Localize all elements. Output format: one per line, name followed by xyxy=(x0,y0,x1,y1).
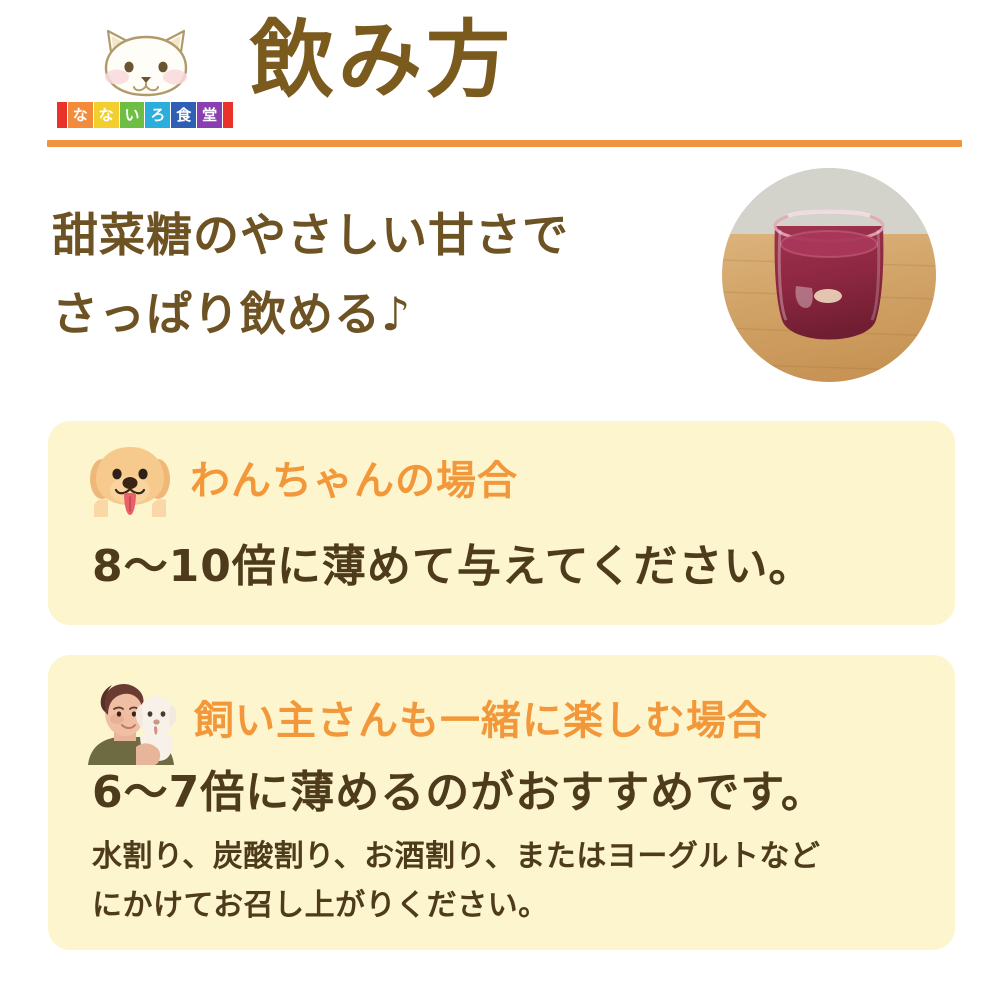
brand-tile-6: 堂 xyxy=(197,102,222,128)
page-title: 飲み方 xyxy=(250,18,514,102)
brand-tile-2: な xyxy=(94,102,119,128)
page-header: な な い ろ 食 堂 飲み方 xyxy=(0,0,1000,150)
card-owner-title: 飼い主さんも一緒に楽しむ場合 xyxy=(194,701,768,741)
brand-tile-1: な xyxy=(68,102,93,128)
card-owner-sub-text: 水割り、炭酸割り、お酒割り、またはヨーグルトなど にかけてお召し上がりください。 xyxy=(92,833,922,930)
card-owner-main-text: 6〜7倍に薄めるのがおすすめです。 xyxy=(92,765,826,820)
card-dog-main-text: 8〜10倍に薄めて与えてください。 xyxy=(92,539,813,594)
brand-tile-7 xyxy=(223,102,233,128)
brand-tile-4: ろ xyxy=(145,102,170,128)
header-divider xyxy=(47,140,962,147)
promo-page: な な い ろ 食 堂 飲み方 甜菜糖のやさしい甘さで さっぱり飲める♪ xyxy=(0,0,1000,1000)
golden-retriever-puppy-icon xyxy=(84,445,176,517)
brand-tile-5: 食 xyxy=(171,102,196,128)
owner-with-puppy-icon xyxy=(84,677,180,765)
brand-name-tiles: な な い ろ 食 堂 xyxy=(57,102,233,128)
lead-line-1: 甜菜糖のやさしい甘さで xyxy=(52,196,692,275)
card-dog-title: わんちゃんの場合 xyxy=(190,461,518,501)
card-owner-dilution: 飼い主さんも一緒に楽しむ場合 6〜7倍に薄めるのがおすすめです。 水割り、炭酸割… xyxy=(48,655,955,950)
brand-tile-0 xyxy=(57,102,67,128)
card-owner-sub-line-2: にかけてお召し上がりください。 xyxy=(92,882,922,931)
brand-tile-3: い xyxy=(120,102,145,128)
card-dog-dilution: わんちゃんの場合 8〜10倍に薄めて与えてください。 xyxy=(48,421,955,625)
card-owner-header: 飼い主さんも一緒に楽しむ場合 xyxy=(84,677,768,765)
brand-logo: な な い ろ 食 堂 xyxy=(57,22,233,132)
drink-glass-photo xyxy=(722,168,936,382)
lead-text: 甜菜糖のやさしい甘さで さっぱり飲める♪ xyxy=(52,196,692,354)
card-owner-sub-line-1: 水割り、炭酸割り、お酒割り、またはヨーグルトなど xyxy=(92,833,922,882)
shiba-dog-face-icon xyxy=(87,22,205,100)
card-dog-header: わんちゃんの場合 xyxy=(84,445,518,517)
lead-line-2: さっぱり飲める♪ xyxy=(52,275,692,354)
